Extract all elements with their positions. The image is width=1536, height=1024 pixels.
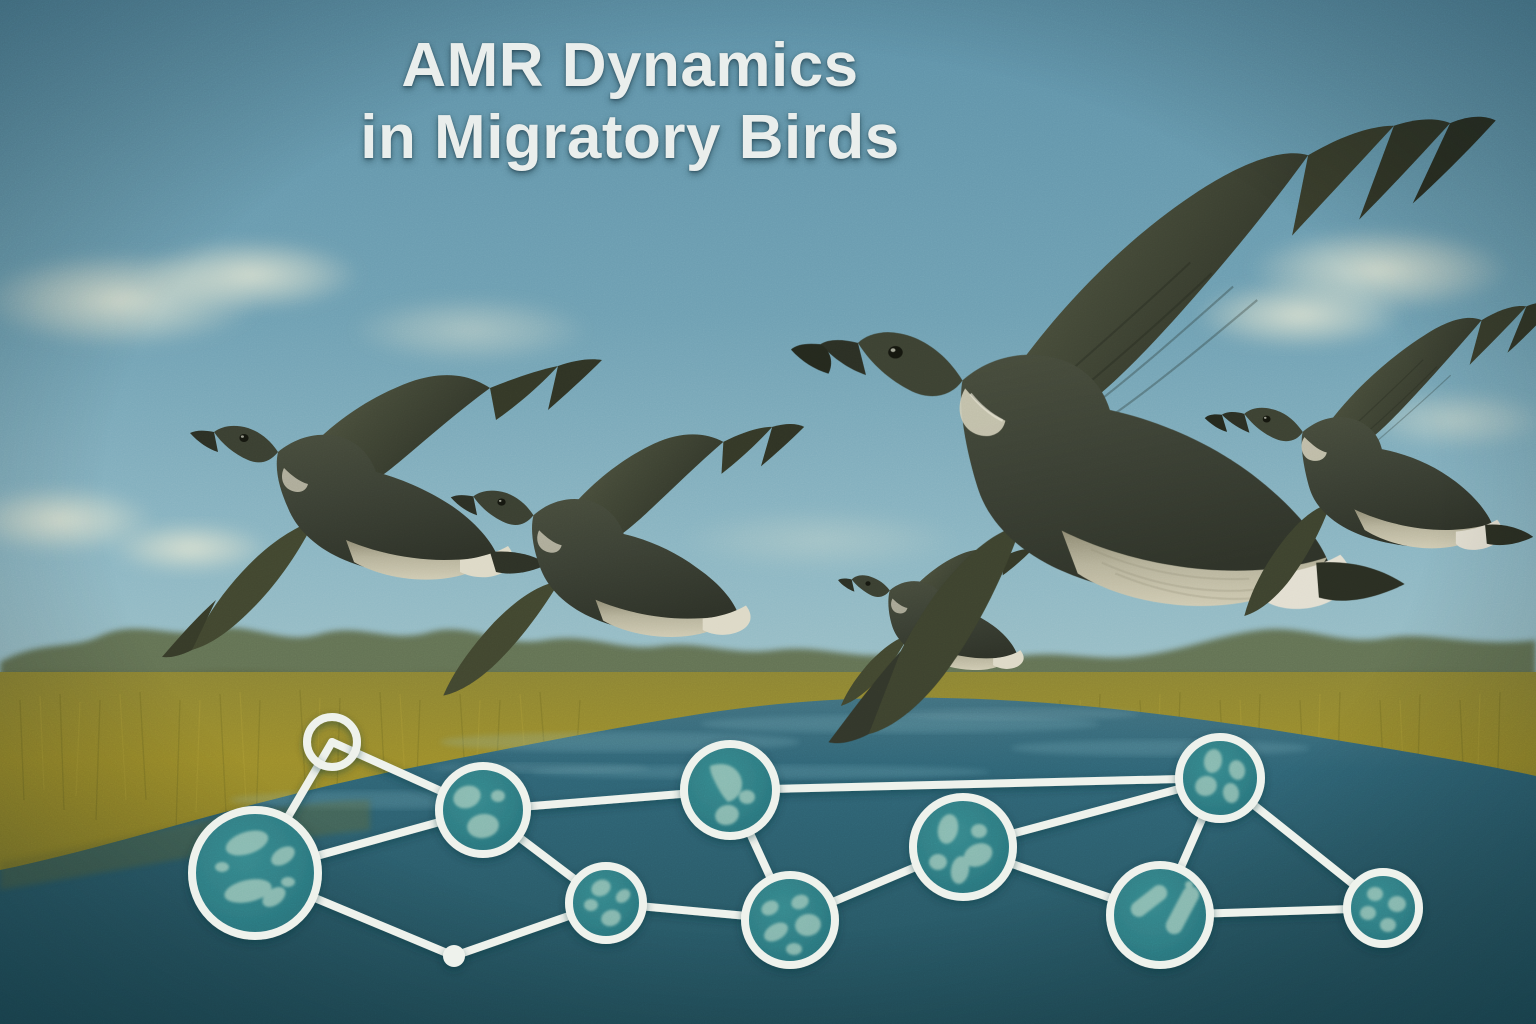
- node-small-center-left[interactable]: [569, 866, 643, 940]
- node-upper-right[interactable]: [1179, 737, 1261, 819]
- edge-uppercenter-upperright: [730, 778, 1220, 790]
- node-dot-junction[interactable]: [443, 945, 465, 967]
- node-large-left[interactable]: [192, 810, 318, 936]
- node-large-center[interactable]: [913, 797, 1013, 897]
- node-far-right[interactable]: [1347, 872, 1419, 944]
- node-upper-center[interactable]: [684, 744, 776, 836]
- banner-image: AMR Dynamics in Migratory Birds: [0, 0, 1536, 1024]
- amr-transmission-network: [0, 0, 1536, 1024]
- node-rod-right[interactable]: [1110, 865, 1210, 965]
- node-lower-center[interactable]: [745, 875, 835, 965]
- node-upper-left-mid[interactable]: [439, 766, 527, 854]
